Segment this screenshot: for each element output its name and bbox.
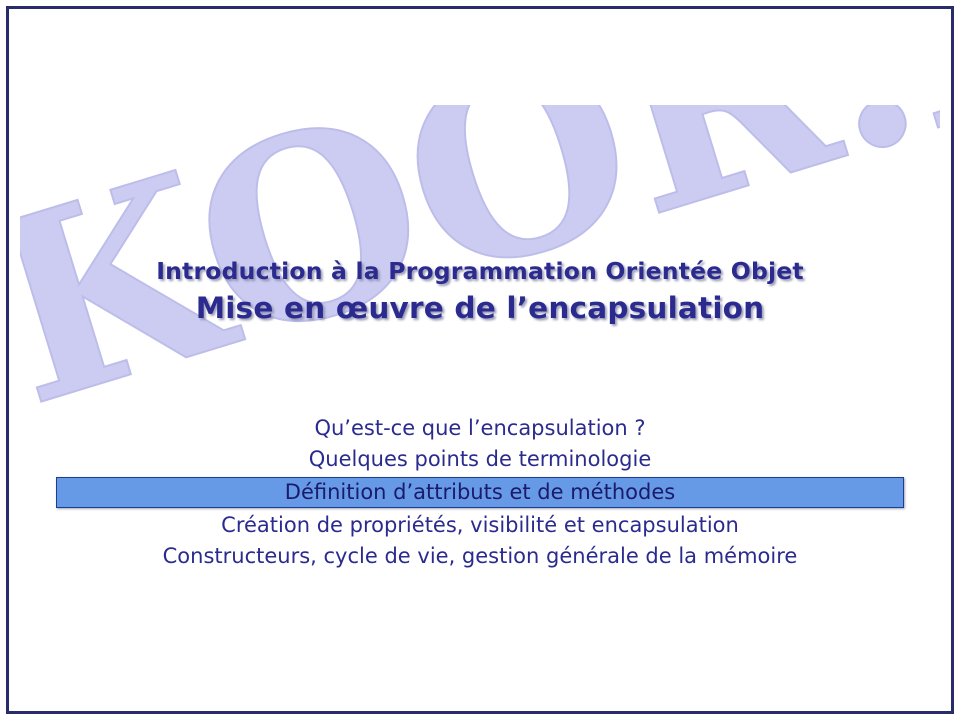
slide-border-top <box>6 6 954 9</box>
agenda-list: Qu’est-ce que l’encapsulation ? Quelques… <box>0 413 960 572</box>
slide-border-right <box>951 6 954 714</box>
agenda-item-4[interactable]: Création de propriétés, visibilité et en… <box>0 510 960 541</box>
title-line-1: Introduction à la Programmation Orientée… <box>0 258 960 285</box>
slide-border-bottom <box>6 711 954 714</box>
slide-title: Introduction à la Programmation Orientée… <box>0 258 960 327</box>
title-line-2: Mise en œuvre de l’encapsulation <box>0 289 960 327</box>
slide: KOOR.fr Introduction à la Programmation … <box>0 0 960 720</box>
agenda-item-3-current[interactable]: Définition d’attributs et de méthodes <box>56 477 904 508</box>
agenda-item-1[interactable]: Qu’est-ce que l’encapsulation ? <box>0 413 960 444</box>
agenda-item-2[interactable]: Quelques points de terminologie <box>0 444 960 475</box>
slide-border-left <box>6 6 9 714</box>
agenda-item-5[interactable]: Constructeurs, cycle de vie, gestion gén… <box>0 541 960 572</box>
